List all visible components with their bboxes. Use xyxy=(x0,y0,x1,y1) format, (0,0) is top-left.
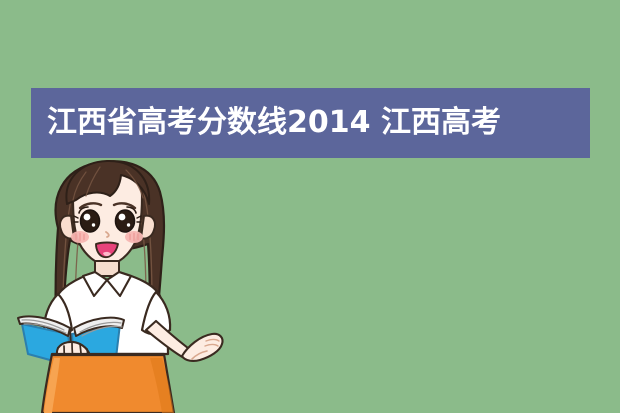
blush-right xyxy=(125,231,143,243)
student-girl-illustration xyxy=(0,158,260,413)
banner-image: 江西省高考分数线2014 江西高考 xyxy=(0,0,620,413)
hand-right-palm xyxy=(182,334,223,361)
title-band: 江西省高考分数线2014 江西高考 xyxy=(31,88,590,158)
page-title: 江西省高考分数线2014 江西高考 xyxy=(31,108,501,138)
blush-left xyxy=(71,231,89,243)
